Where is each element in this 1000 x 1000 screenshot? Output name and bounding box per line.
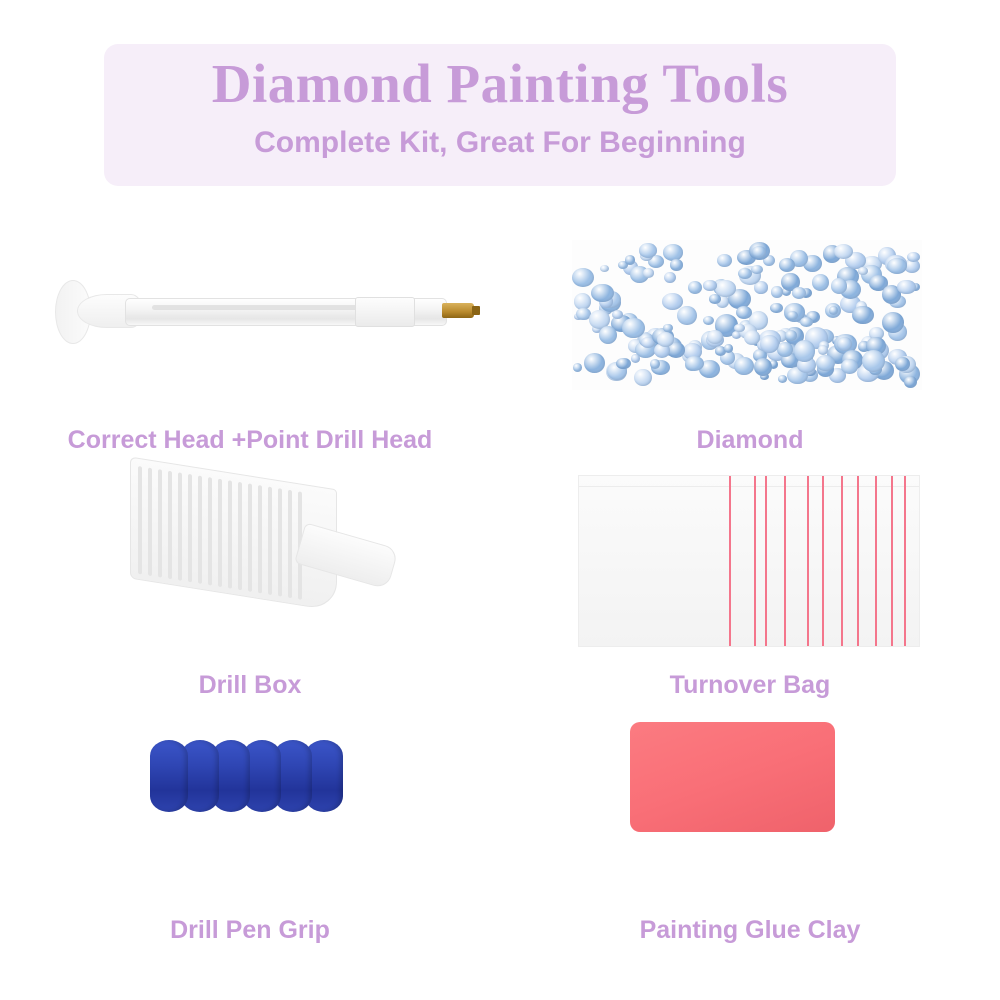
tool-item-drill-pen-grip: Drill Pen Grip (0, 700, 500, 945)
tools-row: Drill Box Turnover Bag (0, 455, 1000, 700)
tool-label: Drill Pen Grip (0, 916, 500, 945)
correct-head-icon (55, 280, 135, 342)
point-drill-head-tip (472, 306, 480, 315)
tool-label: Painting Glue Clay (500, 916, 1000, 945)
tool-item-correct-head-point-drill-head: Correct Head +Point Drill Head (0, 210, 500, 455)
tools-row: Drill Pen Grip Painting Glue Clay (0, 700, 1000, 945)
page-subtitle: Complete Kit, Great For Beginning (104, 126, 896, 160)
point-drill-head-icon (442, 303, 474, 318)
glue-clay-icon (630, 722, 835, 832)
drill-pen-icon (55, 272, 485, 352)
tools-grid: Correct Head +Point Drill Head Diamond D… (0, 210, 1000, 945)
tool-image-drill-box (0, 455, 500, 665)
pen-grip-icon (150, 740, 370, 830)
page-title: Diamond Painting Tools (104, 52, 896, 115)
bag-seam (579, 486, 919, 487)
tool-item-drill-box: Drill Box (0, 455, 500, 700)
header-banner: Diamond Painting Tools Complete Kit, Gre… (104, 44, 896, 186)
tool-image-painting-glue-clay (500, 700, 1000, 910)
tool-label: Drill Box (0, 671, 500, 700)
tool-image-turnover-bag (500, 455, 1000, 665)
tool-image-diamond (500, 210, 1000, 420)
diamond-beads-icon (572, 240, 922, 390)
tool-item-turnover-bag: Turnover Bag (500, 455, 1000, 700)
tool-item-painting-glue-clay: Painting Glue Clay (500, 700, 1000, 945)
tool-label: Correct Head +Point Drill Head (0, 426, 500, 455)
turnover-bag-icon (578, 475, 920, 647)
drill-box-icon (130, 473, 390, 648)
tools-row: Correct Head +Point Drill Head Diamond (0, 210, 1000, 455)
tool-label: Turnover Bag (500, 671, 1000, 700)
tool-image-correct-head-point-drill-head (0, 210, 500, 420)
pen-grip-band (355, 297, 415, 327)
tool-image-drill-pen-grip (0, 700, 500, 910)
tool-label: Diamond (500, 426, 1000, 455)
tool-item-diamond: Diamond (500, 210, 1000, 455)
